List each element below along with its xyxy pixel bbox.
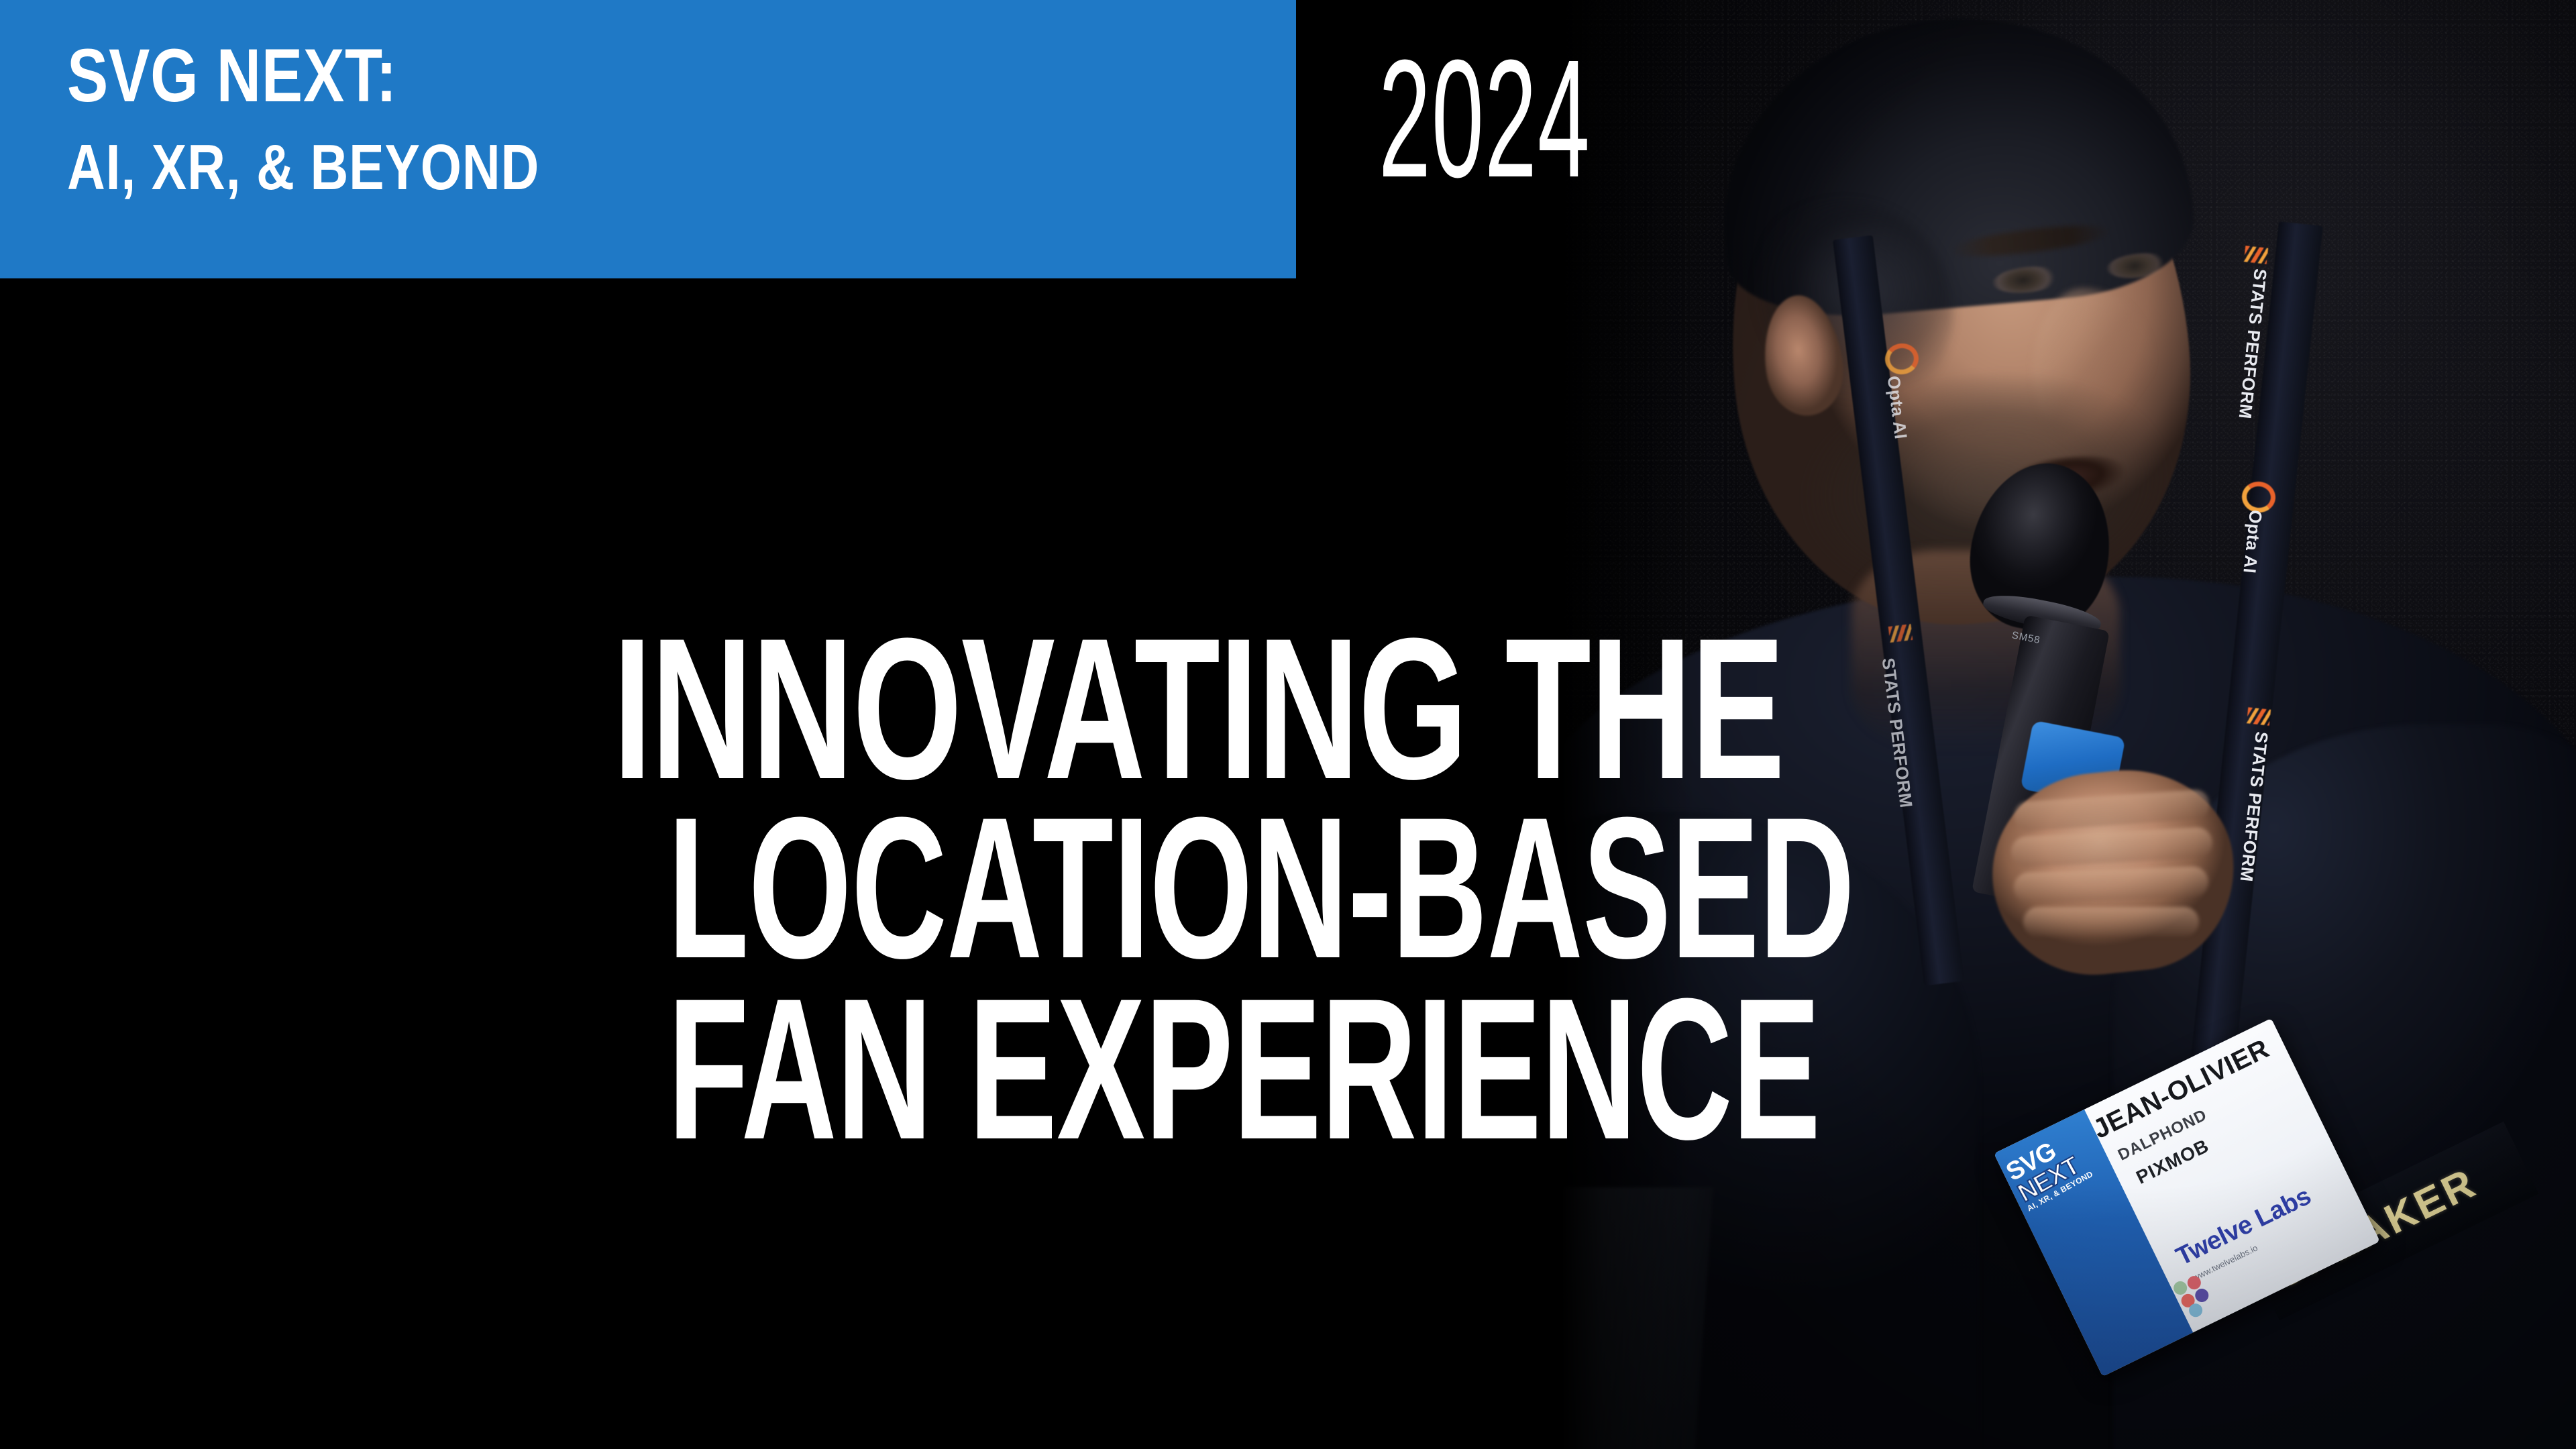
event-year: 2024: [1379, 35, 1591, 203]
speaker-finger: [2023, 907, 2199, 936]
lanyard-stripe-icon: [2244, 246, 2268, 264]
session-title-line1: INNOVATING THE: [613, 624, 1574, 793]
session-title-line2: LOCATION-BASED: [667, 801, 1573, 974]
event-banner-line2: AI, XR, & BEYOND: [67, 137, 539, 198]
event-banner-line1: SVG NEXT:: [67, 40, 539, 111]
session-title: INNOVATING THE LOCATION-BASED FAN EXPERI…: [201, 624, 1573, 1155]
slide-canvas: STATS PERFORM Opta AI STATS PERFORM Opta…: [0, 0, 2576, 1449]
event-banner: SVG NEXT: AI, XR, & BEYOND: [0, 0, 1296, 278]
chair-edge: [1563, 1187, 1713, 1449]
lanyard-stripe-icon: [1888, 624, 1913, 643]
event-banner-text: SVG NEXT: AI, XR, & BEYOND: [67, 40, 643, 199]
lanyard-stripe-icon: [2247, 707, 2271, 725]
session-title-line3: FAN EXPERIENCE: [667, 982, 1573, 1155]
